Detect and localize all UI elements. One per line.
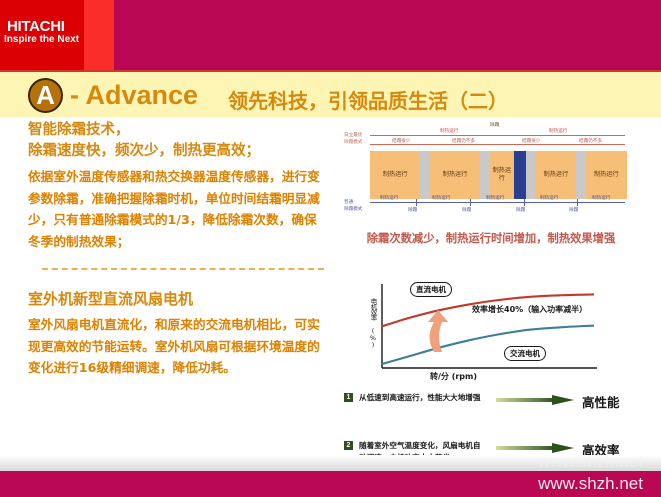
- defrost-sub-label-0: 结霜很少: [392, 138, 410, 144]
- section-fanmotor-body: 室外风扇电机直流化，和原来的交流电机相比，可实现更高效的节能运转。室外机风扇可根…: [28, 314, 328, 379]
- defrost-bottom-run-2: 制热运行: [486, 195, 504, 201]
- defrost-bottom-defrost-1: 除霜: [462, 207, 471, 213]
- defrost-block-heat-7: 制热运行: [535, 151, 576, 199]
- chart-legend-ac-motor: 交流电机: [504, 346, 546, 361]
- page-title-chinese: 领先科技，引领品质生活（二）: [228, 85, 508, 114]
- section-defrost-heading-line1: 智能除霜技术，: [28, 120, 328, 141]
- defrost-top-run-label: 制热运行: [440, 128, 458, 134]
- arrow-right-icon: [496, 395, 574, 405]
- defrost-label-normal-line2: 除霜模式: [344, 207, 368, 214]
- brand-tagline: Inspire the Next: [4, 34, 79, 45]
- defrost-label-normal-mode: 普通 除霜模式: [344, 200, 368, 213]
- defrost-bottom-run-4: 制热运行: [592, 195, 610, 201]
- defrost-block-gap-6: [526, 151, 535, 199]
- defrost-sub-label-3: 结霜仍不多: [579, 138, 602, 144]
- defrost-bottom-tick-1: [470, 199, 471, 206]
- defrost-top-axis-line-2: [370, 144, 625, 145]
- defrost-bottom-tick-3: [577, 199, 578, 206]
- chart-series-ac-motor: [382, 326, 594, 364]
- defrost-sub-label-2: 结霜很少: [522, 138, 540, 144]
- advance-badge-icon: A: [28, 78, 63, 113]
- defrost-timing-diagram: 日立最优 除霜模式 制热运行 制热运行 除霜 结霜很少 结霜仍不多 结霜很少 结…: [344, 128, 634, 228]
- hitachi-logo-block: HITACHI Inspire the Next: [0, 0, 84, 70]
- footer-url: www.shzh.net: [538, 474, 643, 494]
- defrost-top-axis-line: [370, 135, 625, 136]
- defrost-sub-label-1: 结霜仍不多: [452, 138, 475, 144]
- bullet-text-1: 从低速到高速运行，性能大大地增强: [359, 392, 484, 404]
- defrost-block-gap-3: [480, 151, 489, 199]
- brand-name: HITACHI: [7, 18, 65, 35]
- section-defrost-body: 依据室外温度传感器和热交换器温度传感器，进行变参数除霜，准确把握除霜时机，单位时…: [28, 166, 328, 252]
- bullet-result-1: 高性能: [582, 392, 620, 411]
- defrost-bottom-defrost-3: 除霜: [569, 207, 578, 213]
- defrost-bottom-tick-0: [416, 199, 417, 206]
- defrost-bottom-tick-2: [524, 199, 525, 206]
- defrost-label-hitachi-line2: 除霜模式: [344, 140, 368, 147]
- defrost-block-gap-8: [576, 151, 585, 199]
- defrost-block-heat-4: 制热运行: [490, 151, 514, 199]
- bullet-number-2: 2: [344, 441, 353, 450]
- motor-efficiency-chart: 电机效率 (%) 转/分 (rpm) 效率增长40%（输入功率减半） 直流电机 …: [352, 280, 632, 385]
- defrost-label-hitachi-mode: 日立最优 除霜模式: [344, 133, 368, 146]
- bullet-number-1: 1: [344, 393, 353, 402]
- motor-chart-svg: [352, 280, 632, 385]
- chart-annotation: 效率增长40%（输入功率减半）: [472, 304, 587, 315]
- defrost-bottom-run-3: 制热运行: [540, 195, 558, 201]
- page-title-latin: - Advance: [70, 80, 198, 111]
- section-divider: [42, 268, 324, 270]
- defrost-marker-label: 除霜: [490, 122, 499, 128]
- defrost-bottom-run-0: 制热运行: [380, 195, 398, 201]
- defrost-block-gap-1: [420, 151, 429, 199]
- defrost-bottom-defrost-0: 除霜: [408, 207, 417, 213]
- chart-legend-dc-motor: 直流电机: [410, 282, 452, 297]
- title-bar: A - Advance 领先科技，引领品质生活（二）: [0, 70, 661, 117]
- chart-y-axis-label: 电机效率 (%): [368, 298, 378, 360]
- defrost-bottom-axis-line: [370, 202, 625, 203]
- section-defrost: 智能除霜技术， 除霜速度快，频次少，制热更高效； 依据室外温度传感器和热交换器温…: [28, 120, 328, 252]
- footer-watermark: www.shzh.net: [538, 452, 643, 472]
- defrost-top-run-label-2: 制热运行: [549, 128, 567, 134]
- defrost-diagram-caption: 除霜次数减少，制热运行时间增加，制热效果增强: [346, 230, 636, 246]
- section-fanmotor-heading: 室外机新型直流风扇电机: [28, 288, 328, 309]
- section-fanmotor: 室外机新型直流风扇电机 室外风扇电机直流化，和原来的交流电机相比，可实现更高效的…: [28, 288, 328, 379]
- header-accent-stripe: [84, 0, 114, 70]
- section-defrost-heading-line2: 除霜速度快，频次少，制热更高效；: [28, 141, 328, 162]
- defrost-block-heat-9: 制热运行: [586, 151, 627, 199]
- section-defrost-heading: 智能除霜技术， 除霜速度快，频次少，制热更高效；: [28, 120, 328, 162]
- list-item: 1 从低速到高速运行，性能大大地增强 高性能: [344, 392, 644, 426]
- defrost-block-heat-2: 制热运行: [430, 151, 480, 199]
- defrost-bottom-defrost-2: 除霜: [516, 207, 525, 213]
- defrost-block-track: 制热运行制热运行制热运行制热运行制热运行: [370, 151, 627, 199]
- defrost-block-heat-0: 制热运行: [370, 151, 420, 199]
- chart-x-axis-label: 转/分 (rpm): [430, 371, 477, 382]
- defrost-bottom-run-1: 制热运行: [432, 195, 450, 201]
- defrost-block-blue-5: [514, 151, 526, 199]
